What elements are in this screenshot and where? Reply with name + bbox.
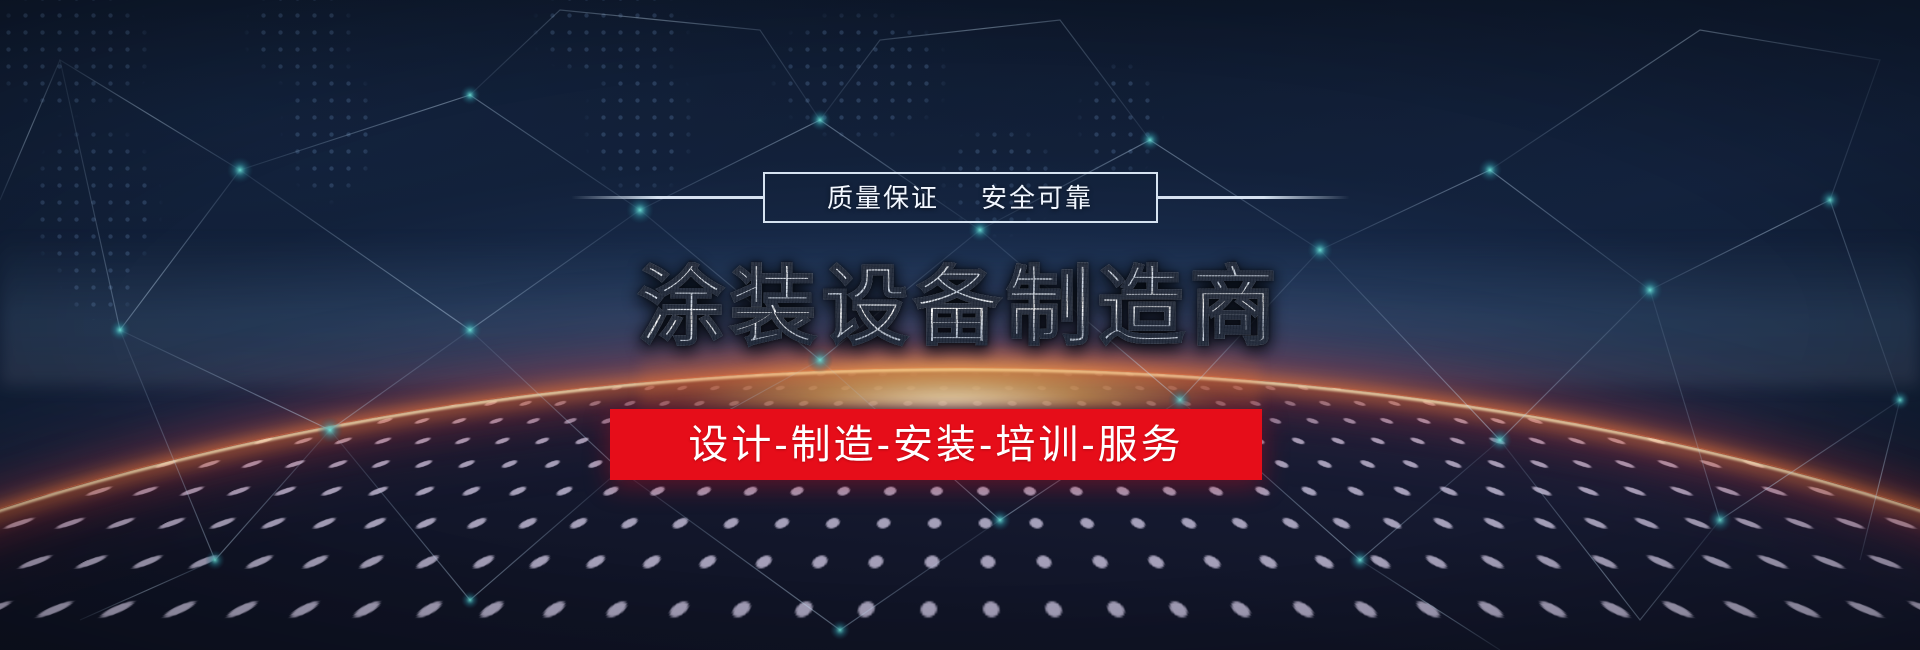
page-title: 涂装设备制造商	[0, 262, 1920, 352]
services-banner: 设计-制造-安装-培训-服务	[610, 409, 1262, 480]
tagline-rule-right	[1158, 196, 1350, 199]
tagline-box: 质量保证 安全可靠	[763, 172, 1158, 223]
tagline-rule-left	[571, 196, 763, 199]
tagline-safety: 安全可靠	[981, 185, 1093, 211]
services-banner-label: 设计-制造-安装-培训-服务	[688, 425, 1183, 465]
banner-content: 质量保证 安全可靠 涂装设备制造商 设计-制造-安装-培训-服务	[0, 0, 1920, 650]
tagline-row: 质量保证 安全可靠	[0, 172, 1920, 223]
promotional-banner: 质量保证 安全可靠 涂装设备制造商 设计-制造-安装-培训-服务	[0, 0, 1920, 650]
tagline-quality: 质量保证	[827, 185, 939, 211]
